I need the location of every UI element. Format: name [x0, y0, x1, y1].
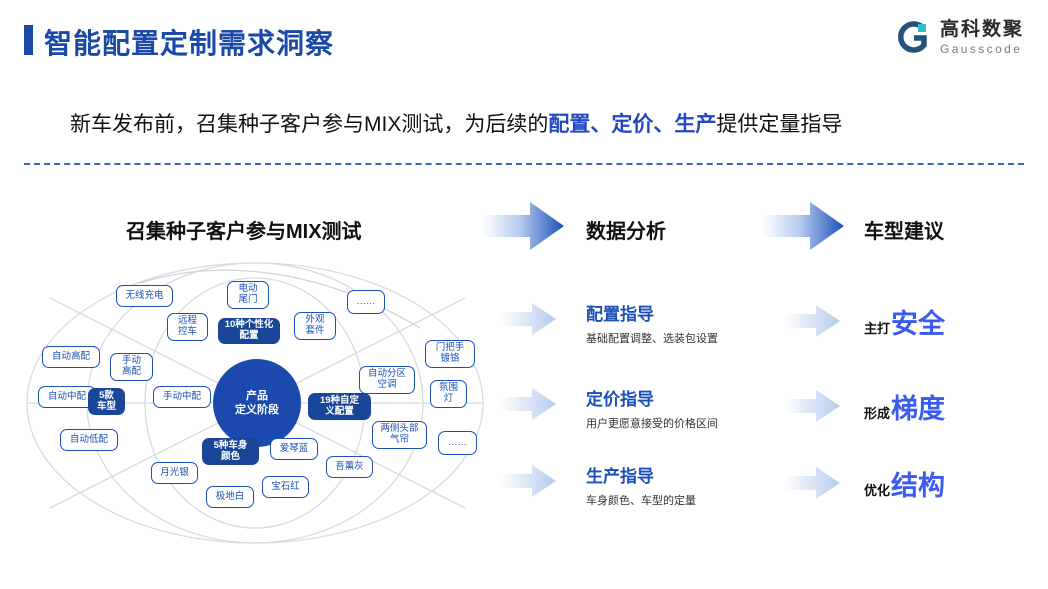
brand-name-cn: 高科数聚	[940, 20, 1024, 39]
analysis-item-title: 生产指导	[586, 462, 696, 487]
diagram-node: 自动分区 空调	[359, 366, 415, 394]
slide-root: 智能配置定制需求洞察 高科数聚 Gausscode 新车发布前，召集种子客户参与…	[0, 0, 1048, 589]
suggestion-item: 优化结构	[864, 464, 945, 503]
product-definition-diagram: 产品 定义阶段 无线充电电动 尾门……远程 控车外观 套件门把手 镀铬自动高配手…	[20, 258, 510, 548]
suggestion-item: 主打安全	[864, 302, 945, 341]
diagram-badge: 10种个性化 配置	[218, 318, 280, 344]
analysis-item: 配置指导基础配置调整、选装包设置	[586, 300, 718, 346]
diagram-node: 手动中配	[153, 386, 211, 408]
diagram-node: 电动 尾门	[227, 281, 269, 309]
brand-name-en: Gausscode	[940, 43, 1024, 55]
diagram-node: 外观 套件	[294, 312, 336, 340]
diagram-node: 远程 控车	[167, 313, 208, 341]
suggestion-prefix: 主打	[864, 318, 890, 337]
section-divider	[24, 163, 1024, 165]
diagram-node: ……	[438, 431, 477, 455]
diagram-node: 无线充电	[116, 285, 173, 307]
analysis-item-subtitle: 基础配置调整、选装包设置	[586, 330, 718, 346]
diagram-node: 氛围 灯	[430, 380, 467, 408]
diagram-node: 极地白	[206, 486, 254, 508]
stage-arrow-2-icon	[762, 200, 844, 252]
brand-text: 高科数聚 Gausscode	[940, 20, 1024, 55]
analysis-item-subtitle: 用户更愿意接受的价格区间	[586, 415, 718, 431]
suggestion-prefix: 形成	[864, 403, 890, 422]
diagram-node: 自动高配	[42, 346, 100, 368]
suggestion-keyword: 安全	[891, 302, 945, 341]
analysis-item-title: 定价指导	[586, 385, 718, 410]
diagram-node: 吾薰灰	[326, 456, 373, 478]
diagram-badge: 5种车身 颜色	[202, 438, 259, 465]
diagram-node: 门把手 镀铬	[425, 340, 475, 368]
subtitle-part2: 提供定量指导	[716, 113, 842, 136]
stage-arrow-1-icon	[482, 200, 564, 252]
suggestion-item: 形成梯度	[864, 387, 945, 426]
stage-header-1: 召集种子客户参与MIX测试	[126, 215, 362, 244]
brand-logo: 高科数聚 Gausscode	[894, 18, 1024, 56]
analysis-arrow-icon	[500, 387, 556, 421]
stage-header-3: 车型建议	[864, 215, 944, 244]
diagram-node: ……	[347, 290, 385, 314]
analysis-item-title: 配置指导	[586, 300, 718, 325]
diagram-hub: 产品 定义阶段	[213, 359, 301, 447]
gausscode-logo-icon	[894, 18, 932, 56]
analysis-item: 定价指导用户更愿意接受的价格区间	[586, 385, 718, 431]
suggestion-arrow-icon	[784, 466, 840, 500]
subtitle: 新车发布前，召集种子客户参与MIX测试，为后续的配置、定价、生产提供定量指导	[70, 108, 842, 138]
analysis-item: 生产指导车身颜色、车型的定量	[586, 462, 696, 508]
page-title: 智能配置定制需求洞察	[44, 22, 334, 62]
title-accent-bar	[24, 25, 33, 55]
diagram-node: 月光银	[151, 462, 198, 484]
stage-header-2: 数据分析	[586, 215, 666, 244]
diagram-badge: 19种自定 义配置	[308, 393, 371, 420]
diagram-node: 两侧头部 气帘	[372, 421, 427, 449]
diagram-badge: 5款 车型	[88, 388, 125, 415]
diagram-node: 手动 高配	[110, 353, 153, 381]
analysis-item-subtitle: 车身颜色、车型的定量	[586, 492, 696, 508]
suggestion-arrow-icon	[784, 389, 840, 423]
subtitle-part1: 新车发布前，召集种子客户参与MIX测试，为后续的	[70, 113, 548, 136]
suggestion-keyword: 结构	[891, 464, 945, 503]
suggestion-arrow-icon	[784, 304, 840, 338]
analysis-arrow-icon	[500, 302, 556, 336]
suggestion-prefix: 优化	[864, 480, 890, 499]
diagram-node: 自动低配	[60, 429, 118, 451]
diagram-node: 宝石红	[262, 476, 309, 498]
subtitle-highlight: 配置、定价、生产	[548, 113, 716, 136]
diagram-node: 爱琴蓝	[270, 438, 318, 460]
analysis-arrow-icon	[500, 464, 556, 498]
suggestion-keyword: 梯度	[891, 387, 945, 426]
